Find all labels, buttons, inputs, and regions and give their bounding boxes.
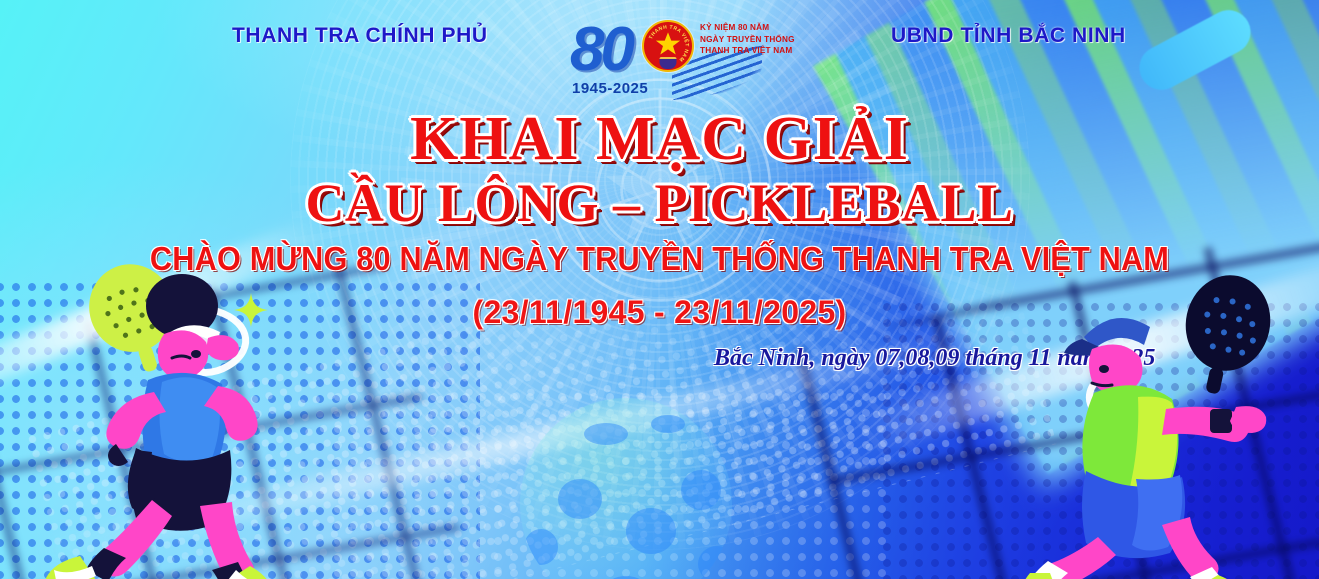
inspectorate-emblem-icon: THANH TRA VIỆT NAM	[642, 20, 694, 72]
svg-text:THANH TRA VIỆT NAM: THANH TRA VIỆT NAM	[648, 24, 691, 62]
logo-caption-line-2: NGÀY TRUYỀN THỐNG	[700, 34, 795, 46]
anniversary-logo: 80 1945-2025 THANH TRA VIỆT NAM KỶ NIỆM …	[566, 8, 756, 100]
event-banner: THANH TRA CHÍNH PHỦ UBND TỈNH BẮC NINH 8…	[0, 0, 1319, 579]
male-player-illustration	[1020, 275, 1319, 579]
logo-caption-line-1: KỶ NIỆM 80 NĂM	[700, 22, 795, 34]
org-left-label: THANH TRA CHÍNH PHỦ	[232, 24, 488, 48]
logo-years: 1945-2025	[572, 80, 648, 97]
title-line-2: CẦU LÔNG – PICKLEBALL	[0, 172, 1319, 234]
emblem-ring-text: THANH TRA VIỆT NAM	[644, 22, 692, 70]
title-line-1: KHAI MẠC GIẢI	[0, 104, 1319, 175]
logo-numeral: 80	[570, 14, 631, 85]
female-player-illustration	[12, 262, 302, 579]
logo-caption: KỶ NIỆM 80 NĂM NGÀY TRUYỀN THỐNG THANH T…	[700, 22, 795, 57]
org-right-label: UBND TỈNH BẮC NINH	[891, 24, 1126, 48]
logo-caption-line-3: THANH TRA VIỆT NAM	[700, 45, 795, 57]
